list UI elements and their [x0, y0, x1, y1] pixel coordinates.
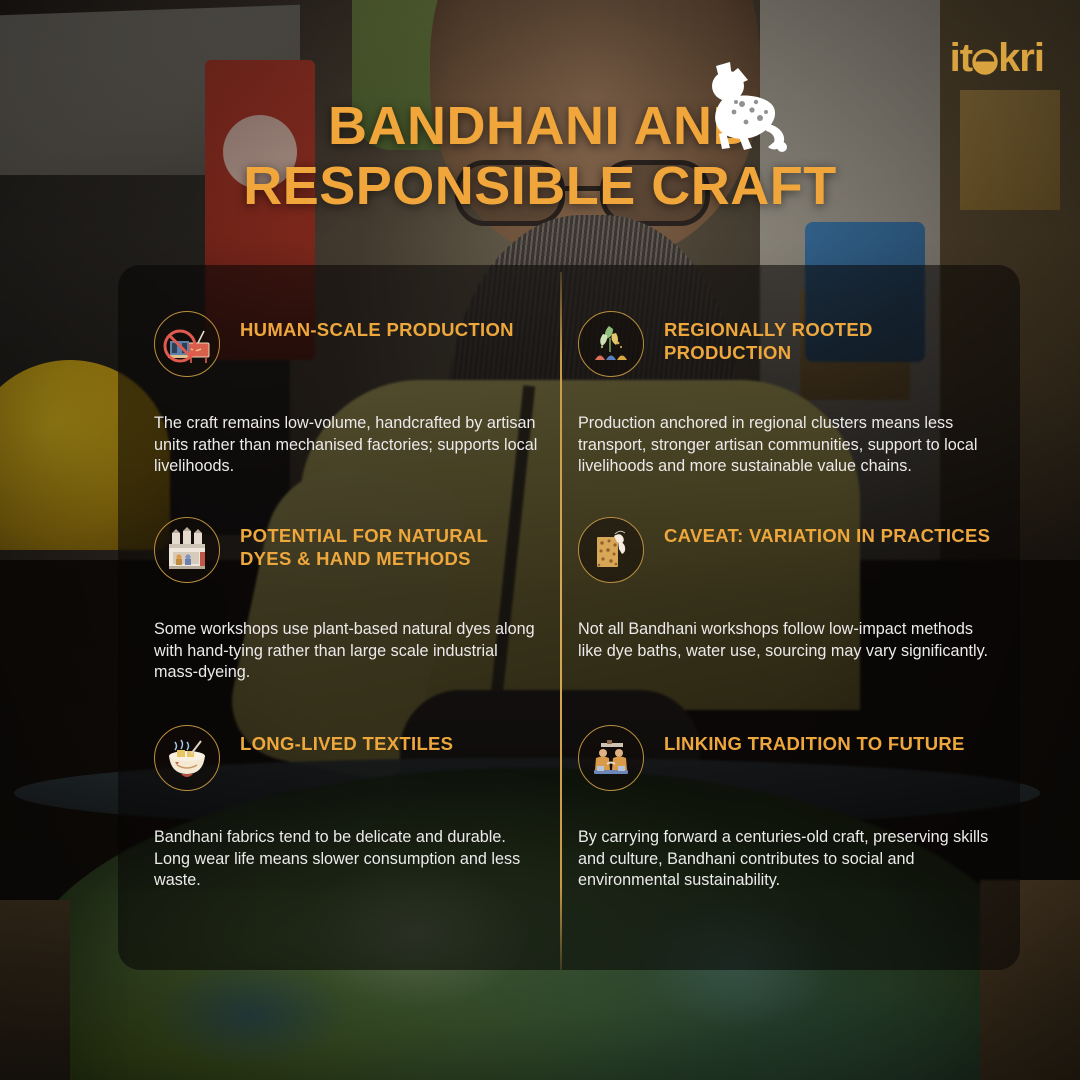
natural-dye-leaves-icon: [578, 311, 644, 377]
card-title: LINKING TRADITION TO FUTURE: [664, 725, 965, 756]
card-body: Not all Bandhani workshops follow low-im…: [578, 619, 993, 662]
steaming-dye-pot-icon: [154, 725, 220, 791]
card-body: Some workshops use plant-based natural d…: [154, 619, 538, 684]
brand-logo-text-part1: it: [950, 36, 972, 80]
card-title: CAVEAT: VARIATION IN PRACTICES: [664, 517, 990, 548]
page-title: BANDHANI AND RESPONSIBLE CRAFT: [0, 96, 1080, 217]
title-line-2: RESPONSIBLE CRAFT: [0, 156, 1080, 216]
brand-logo-text-part2: kri: [998, 36, 1044, 80]
card-body: Production anchored in regional clusters…: [578, 413, 993, 478]
feature-grid: HUMAN-SCALE PRODUCTION The craft remains…: [118, 265, 1020, 970]
card-title: POTENTIAL FOR NATURAL DYES & HAND METHOD…: [240, 517, 538, 570]
card-header: POTENTIAL FOR NATURAL DYES & HAND METHOD…: [154, 517, 538, 583]
feature-card-linking-tradition-to-future: LINKING TRADITION TO FUTURE By carrying …: [560, 679, 1020, 970]
feature-card-natural-dyes-hand-methods: POTENTIAL FOR NATURAL DYES & HAND METHOD…: [118, 471, 560, 679]
title-line-1: BANDHANI AND: [0, 96, 1080, 156]
card-body: The craft remains low-volume, handcrafte…: [154, 413, 538, 478]
two-artisans-weaving-icon: [578, 725, 644, 791]
card-header: LONG-LIVED TEXTILES: [154, 725, 538, 791]
feature-card-regionally-rooted-production: REGIONALLY ROOTED PRODUCTION Production …: [560, 265, 1020, 471]
brand-logo[interactable]: itkri: [950, 38, 1044, 78]
feature-card-human-scale-production: HUMAN-SCALE PRODUCTION The craft remains…: [118, 265, 560, 471]
card-header: REGIONALLY ROOTED PRODUCTION: [578, 311, 994, 377]
hand-holding-patterned-fabric-icon: [578, 517, 644, 583]
card-header: CAVEAT: VARIATION IN PRACTICES: [578, 517, 994, 583]
card-header: HUMAN-SCALE PRODUCTION: [154, 311, 538, 377]
card-title: REGIONALLY ROOTED PRODUCTION: [664, 311, 994, 364]
feature-card-caveat-variation-in-practices: CAVEAT: VARIATION IN PRACTICES Not all B…: [560, 471, 1020, 679]
feature-card-long-lived-textiles: LONG-LIVED TEXTILES Bandhani fabrics ten…: [118, 679, 560, 970]
basket-bowl-icon: [972, 49, 998, 75]
card-header: LINKING TRADITION TO FUTURE: [578, 725, 994, 791]
card-body: Bandhani fabrics tend to be delicate and…: [154, 827, 538, 892]
cat-silhouette-icon: [686, 52, 801, 157]
artisan-workshop-building-icon: [154, 517, 220, 583]
card-body: By carrying forward a centuries-old craf…: [578, 827, 993, 892]
no-factory-machine-icon: [154, 311, 220, 377]
card-title: LONG-LIVED TEXTILES: [240, 725, 453, 756]
card-title: HUMAN-SCALE PRODUCTION: [240, 311, 514, 342]
